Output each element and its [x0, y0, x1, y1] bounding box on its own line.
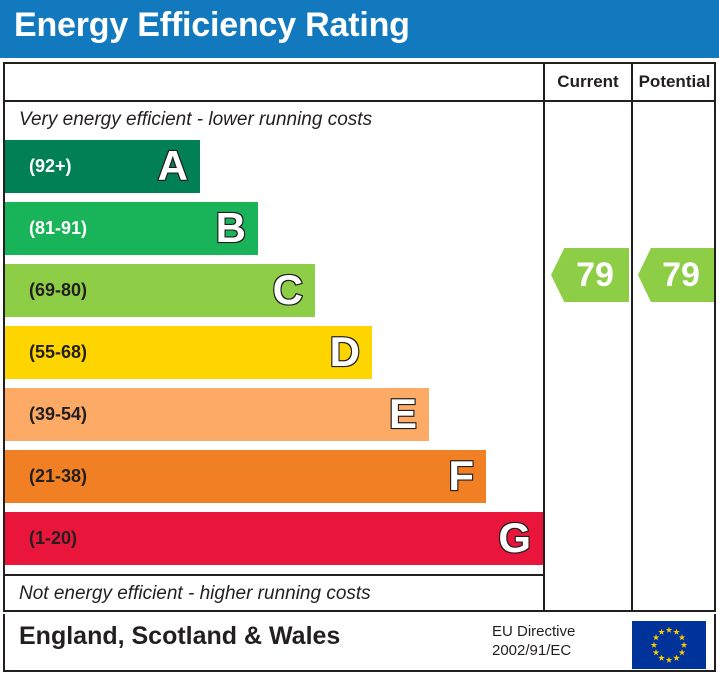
- band-list: (92+) A (81-91) B (69-80) C (55-68) D (3…: [5, 140, 543, 574]
- current-rating-arrow: 79: [551, 248, 629, 302]
- band-g: (1-20) G: [5, 512, 543, 565]
- eu-directive-line1: EU Directive: [492, 622, 622, 641]
- band-a-range: (92+): [29, 140, 72, 193]
- caption-not-efficient: Not energy efficient - higher running co…: [5, 574, 543, 610]
- band-d-range: (55-68): [29, 326, 87, 379]
- band-g-range: (1-20): [29, 512, 77, 565]
- band-e-range: (39-54): [29, 388, 87, 441]
- band-b: (81-91) B: [5, 202, 258, 255]
- band-g-letter: G: [498, 512, 531, 565]
- band-a: (92+) A: [5, 140, 200, 193]
- chart-title-bar: Energy Efficiency Rating: [0, 0, 719, 58]
- eu-star-icon: [653, 649, 660, 656]
- band-b-letter: B: [216, 202, 246, 255]
- eu-star-icon: [666, 627, 673, 634]
- band-d: (55-68) D: [5, 326, 372, 379]
- eu-star-icon: [678, 649, 685, 656]
- eu-star-icon: [658, 629, 665, 636]
- band-f-range: (21-38): [29, 450, 87, 503]
- epc-energy-efficiency-chart: Energy Efficiency Rating Current Potenti…: [0, 0, 719, 675]
- rating-table: Current Potential Very energy efficient …: [3, 62, 716, 612]
- eu-star-icon: [678, 634, 685, 641]
- band-f-letter: F: [448, 450, 474, 503]
- potential-rating-arrow: 79: [638, 248, 714, 302]
- eu-star-icon: [666, 657, 673, 664]
- band-c-letter: C: [273, 264, 303, 317]
- band-b-range: (81-91): [29, 202, 87, 255]
- eu-star-icon: [658, 654, 665, 661]
- current-rating-value: 79: [551, 248, 629, 302]
- eu-star-icon: [673, 629, 680, 636]
- band-e-letter: E: [389, 388, 417, 441]
- page-title: Energy Efficiency Rating: [14, 6, 410, 45]
- potential-rating-cell: 79: [633, 64, 716, 610]
- chart-footer: England, Scotland & Wales EU Directive 2…: [3, 614, 716, 672]
- region-label: England, Scotland & Wales: [19, 622, 340, 651]
- eu-star-icon: [681, 642, 688, 649]
- band-d-letter: D: [330, 326, 360, 379]
- eu-flag-icon: [632, 621, 706, 669]
- eu-directive-label: EU Directive 2002/91/EC: [492, 622, 622, 660]
- band-e: (39-54) E: [5, 388, 429, 441]
- current-rating-cell: 79: [545, 64, 631, 610]
- band-c: (69-80) C: [5, 264, 315, 317]
- eu-directive-line2: 2002/91/EC: [492, 641, 622, 660]
- eu-star-icon: [651, 642, 658, 649]
- band-f: (21-38) F: [5, 450, 486, 503]
- potential-rating-value: 79: [638, 248, 714, 302]
- caption-very-efficient: Very energy efficient - lower running co…: [5, 102, 543, 138]
- eu-star-icon: [653, 634, 660, 641]
- eu-star-icon: [673, 654, 680, 661]
- band-c-range: (69-80): [29, 264, 87, 317]
- band-a-letter: A: [158, 140, 188, 193]
